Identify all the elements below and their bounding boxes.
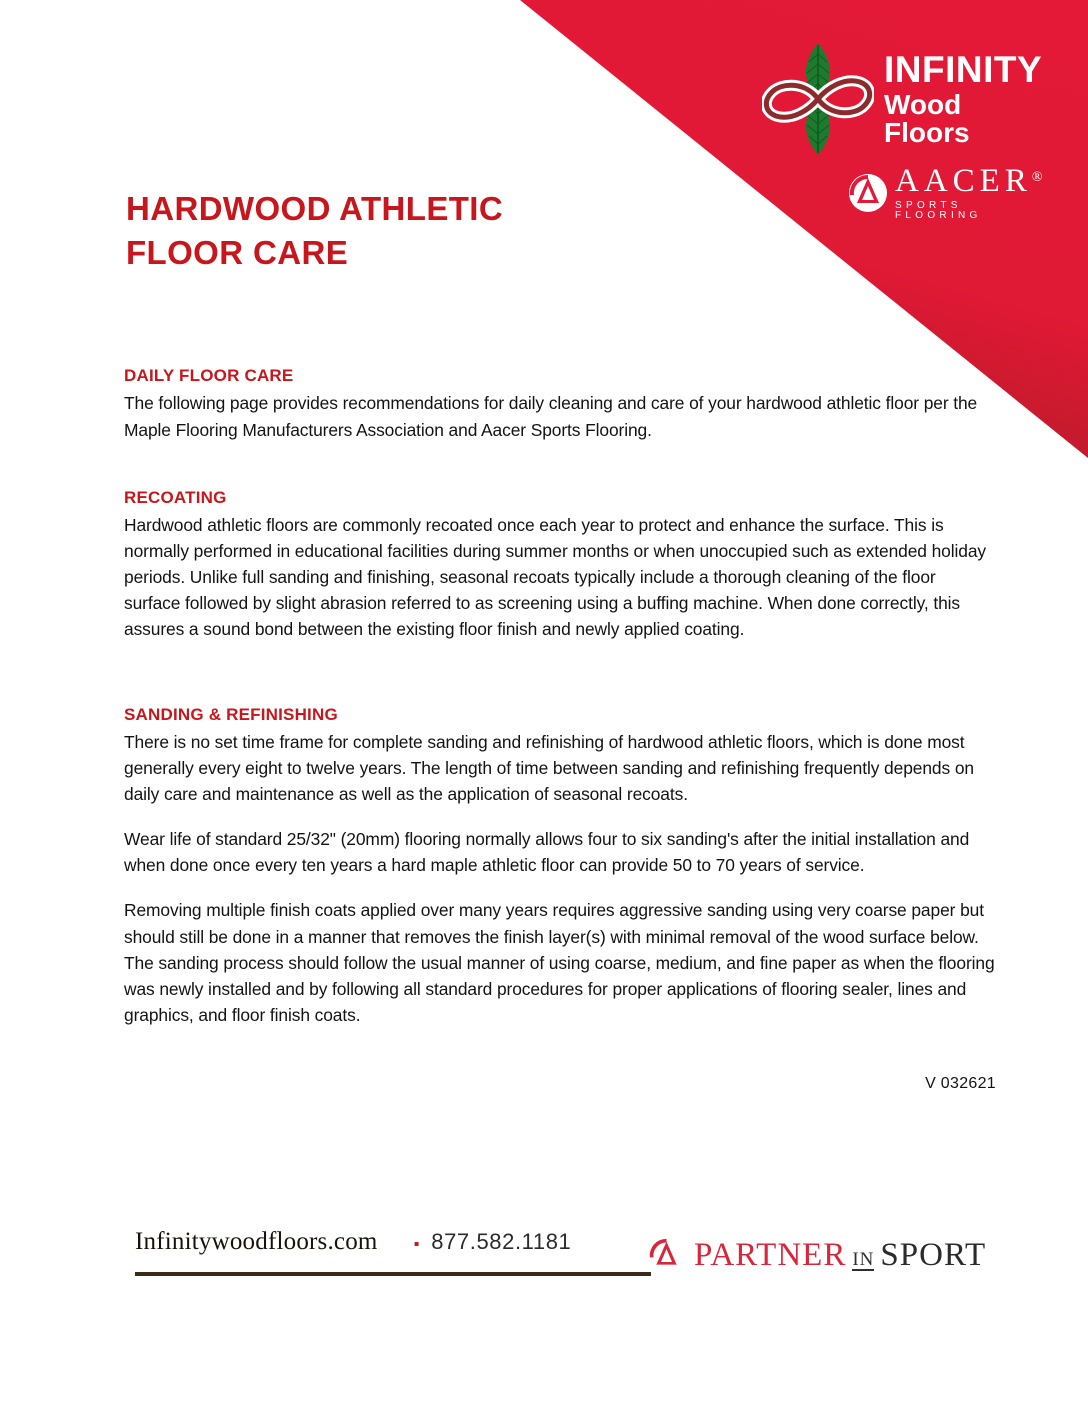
- infinity-wordmark-line2: Wood Floors: [884, 91, 1042, 147]
- section-sanding-refinishing: SANDING & REFINISHING There is no set ti…: [124, 705, 996, 1028]
- version-stamp-text: V 032621: [925, 1075, 996, 1092]
- infinity-leaf-mark: [762, 40, 874, 158]
- in-word: IN: [852, 1250, 874, 1272]
- partner-word: PARTNER: [694, 1237, 846, 1274]
- version-stamp: V 032621: [0, 1075, 996, 1093]
- footer-contact-block: Infinitywoodfloors.com ▪ 877.582.1181: [135, 1228, 655, 1256]
- aacer-wordmark: AACER® SPORTS FLOORING: [895, 165, 1042, 221]
- separator-dot-icon: ▪: [414, 1237, 420, 1253]
- page-title-line-2: FLOOR CARE: [126, 231, 503, 275]
- aacer-name-text: AACER: [895, 163, 1032, 199]
- section-daily-floor-care: DAILY FLOOR CARE The following page prov…: [124, 366, 996, 443]
- infinity-wood-floors-logo: INFINITY Wood Floors: [762, 38, 1037, 160]
- footer-contact: Infinitywoodfloors.com ▪ 877.582.1181: [135, 1228, 655, 1256]
- paragraph: Removing multiple finish coats applied o…: [124, 897, 996, 1028]
- partner-in-sport-logo: PARTNER IN SPORT: [648, 1232, 986, 1278]
- aacer-subtitle: SPORTS FLOORING: [895, 201, 1042, 221]
- infinity-wordmark-line1: INFINITY: [884, 51, 1042, 88]
- paragraph: The following page provides recommendati…: [124, 390, 996, 442]
- website-link[interactable]: Infinitywoodfloors.com: [135, 1228, 378, 1256]
- footer-divider: [135, 1272, 651, 1276]
- document-page: INFINITY Wood Floors AACER® SPORTS FLOOR…: [0, 0, 1088, 1408]
- section-heading-recoating: RECOATING: [124, 488, 996, 508]
- section-heading-daily-floor-care: DAILY FLOOR CARE: [124, 366, 996, 386]
- section-recoating: RECOATING Hardwood athletic floors are c…: [124, 488, 996, 643]
- document-body: DAILY FLOOR CARE The following page prov…: [124, 366, 996, 1028]
- aacer-sports-flooring-logo: AACER® SPORTS FLOORING: [848, 167, 1038, 219]
- paragraph: Wear life of standard 25/32" (20mm) floo…: [124, 826, 996, 878]
- paragraph: Hardwood athletic floors are commonly re…: [124, 512, 996, 643]
- partner-in-sport-wordmark: PARTNER IN SPORT: [694, 1237, 986, 1274]
- aacer-a-mark: [648, 1237, 685, 1274]
- aacer-a-mark: [848, 173, 888, 213]
- sport-word: SPORT: [880, 1237, 986, 1274]
- registered-trademark-icon: ®: [1032, 170, 1043, 185]
- paragraph: There is no set time frame for complete …: [124, 729, 996, 807]
- page-title: HARDWOOD ATHLETIC FLOOR CARE: [126, 187, 503, 274]
- section-heading-sanding-refinishing: SANDING & REFINISHING: [124, 705, 996, 725]
- infinity-wordmark: INFINITY Wood Floors: [884, 51, 1042, 147]
- page-title-line-1: HARDWOOD ATHLETIC: [126, 187, 503, 231]
- aacer-name: AACER®: [895, 165, 1042, 198]
- phone-number[interactable]: 877.582.1181: [431, 1229, 571, 1255]
